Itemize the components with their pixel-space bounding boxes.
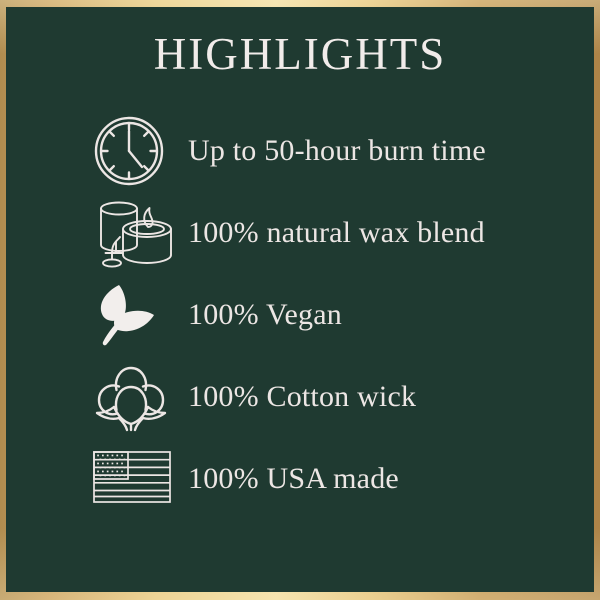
list-item: 100% Vegan — [6, 274, 594, 356]
leaf-icon — [92, 280, 176, 350]
list-item-label: 100% Vegan — [188, 300, 342, 330]
list-item: Up to 50-hour burn time — [6, 110, 594, 192]
usa-flag-icon — [92, 450, 176, 508]
candle-icon — [92, 195, 176, 271]
cotton-boll-icon — [92, 360, 176, 434]
highlights-list: Up to 50-hour burn time — [6, 110, 594, 520]
list-item: 100% USA made — [6, 438, 594, 520]
list-item-label: 100% Cotton wick — [188, 382, 416, 412]
list-item: 100% natural wax blend — [6, 192, 594, 274]
list-item-label: 100% USA made — [188, 464, 399, 494]
list-item-label: 100% natural wax blend — [188, 218, 485, 248]
list-item-label: Up to 50-hour burn time — [188, 136, 486, 166]
card-panel: HIGHLIGHTS — [6, 7, 594, 592]
list-item: 100% Cotton wick — [6, 356, 594, 438]
highlights-card: HIGHLIGHTS — [0, 0, 600, 600]
clock-icon — [92, 114, 176, 188]
page-title: HIGHLIGHTS — [6, 32, 594, 77]
